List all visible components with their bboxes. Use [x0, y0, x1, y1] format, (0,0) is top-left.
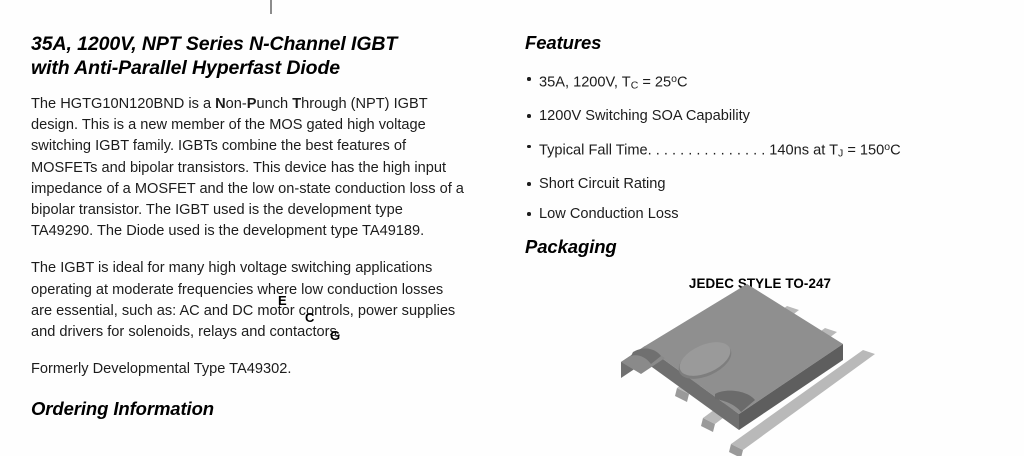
page-title-line-1: 35A, 1200V, NPT Series N-Channel IGBT	[31, 33, 397, 55]
feature-item: 35A, 1200V, TC = 25oC	[525, 70, 995, 95]
pin-label-collector: C	[305, 310, 314, 325]
feature-item: Short Circuit Rating	[525, 175, 995, 193]
right-column: Features 35A, 1200V, TC = 25oC1200V Swit…	[525, 32, 995, 291]
left-column: 35A, 1200V, NPT Series N-Channel IGBT wi…	[31, 32, 467, 420]
desc-p1-mid-2: unch	[257, 96, 293, 112]
description-paragraph-1: The HGTG10N120BND is a Non-Punch Through…	[31, 94, 467, 242]
desc-p1-post: hrough (NPT) IGBT design. This is a new …	[31, 96, 464, 239]
feature-text-run: C	[677, 74, 688, 90]
feature-text-run: Typical Fall Time. . . . . . . . . . . .…	[539, 142, 838, 158]
desc-p1-pre: The HGTG10N120BND is a	[31, 96, 215, 112]
feature-text-run: = 25	[638, 74, 671, 90]
feature-text-run: 1200V Switching SOA Capability	[539, 108, 750, 124]
feature-text-run: 35A, 1200V, T	[539, 74, 631, 90]
desc-p1-bold-n: N	[215, 96, 226, 112]
feature-text-run: Short Circuit Rating	[539, 176, 666, 192]
features-heading: Features	[525, 32, 995, 54]
datasheet-page: 35A, 1200V, NPT Series N-Channel IGBT wi…	[0, 0, 1024, 456]
ordering-information-heading: Ordering Information	[31, 398, 467, 420]
page-crop-tick	[270, 0, 272, 14]
feature-text-run: = 150	[843, 142, 884, 158]
pin-label-gate: G	[330, 328, 340, 343]
feature-item: 1200V Switching SOA Capability	[525, 107, 995, 125]
features-list: 35A, 1200V, TC = 25oC1200V Switching SOA…	[525, 70, 995, 223]
description-paragraph-3: Formerly Developmental Type TA49302.	[31, 359, 467, 380]
feature-text-run: C	[890, 142, 901, 158]
feature-item: Typical Fall Time. . . . . . . . . . . .…	[525, 138, 995, 163]
to-247-package-drawing	[525, 266, 995, 456]
desc-p1-bold-p: P	[247, 96, 257, 112]
page-title: 35A, 1200V, NPT Series N-Channel IGBT wi…	[31, 32, 467, 80]
feature-item: Low Conduction Loss	[525, 205, 995, 223]
page-title-line-2: with Anti-Parallel Hyperfast Diode	[31, 57, 340, 79]
desc-p1-bold-t: T	[292, 96, 301, 112]
packaging-heading: Packaging	[525, 236, 995, 258]
pin-label-emitter: E	[278, 293, 287, 308]
feature-text-run: Low Conduction Loss	[539, 206, 679, 222]
description-paragraph-2: The IGBT is ideal for many high voltage …	[31, 258, 467, 343]
desc-p1-mid-1: on-	[226, 96, 247, 112]
